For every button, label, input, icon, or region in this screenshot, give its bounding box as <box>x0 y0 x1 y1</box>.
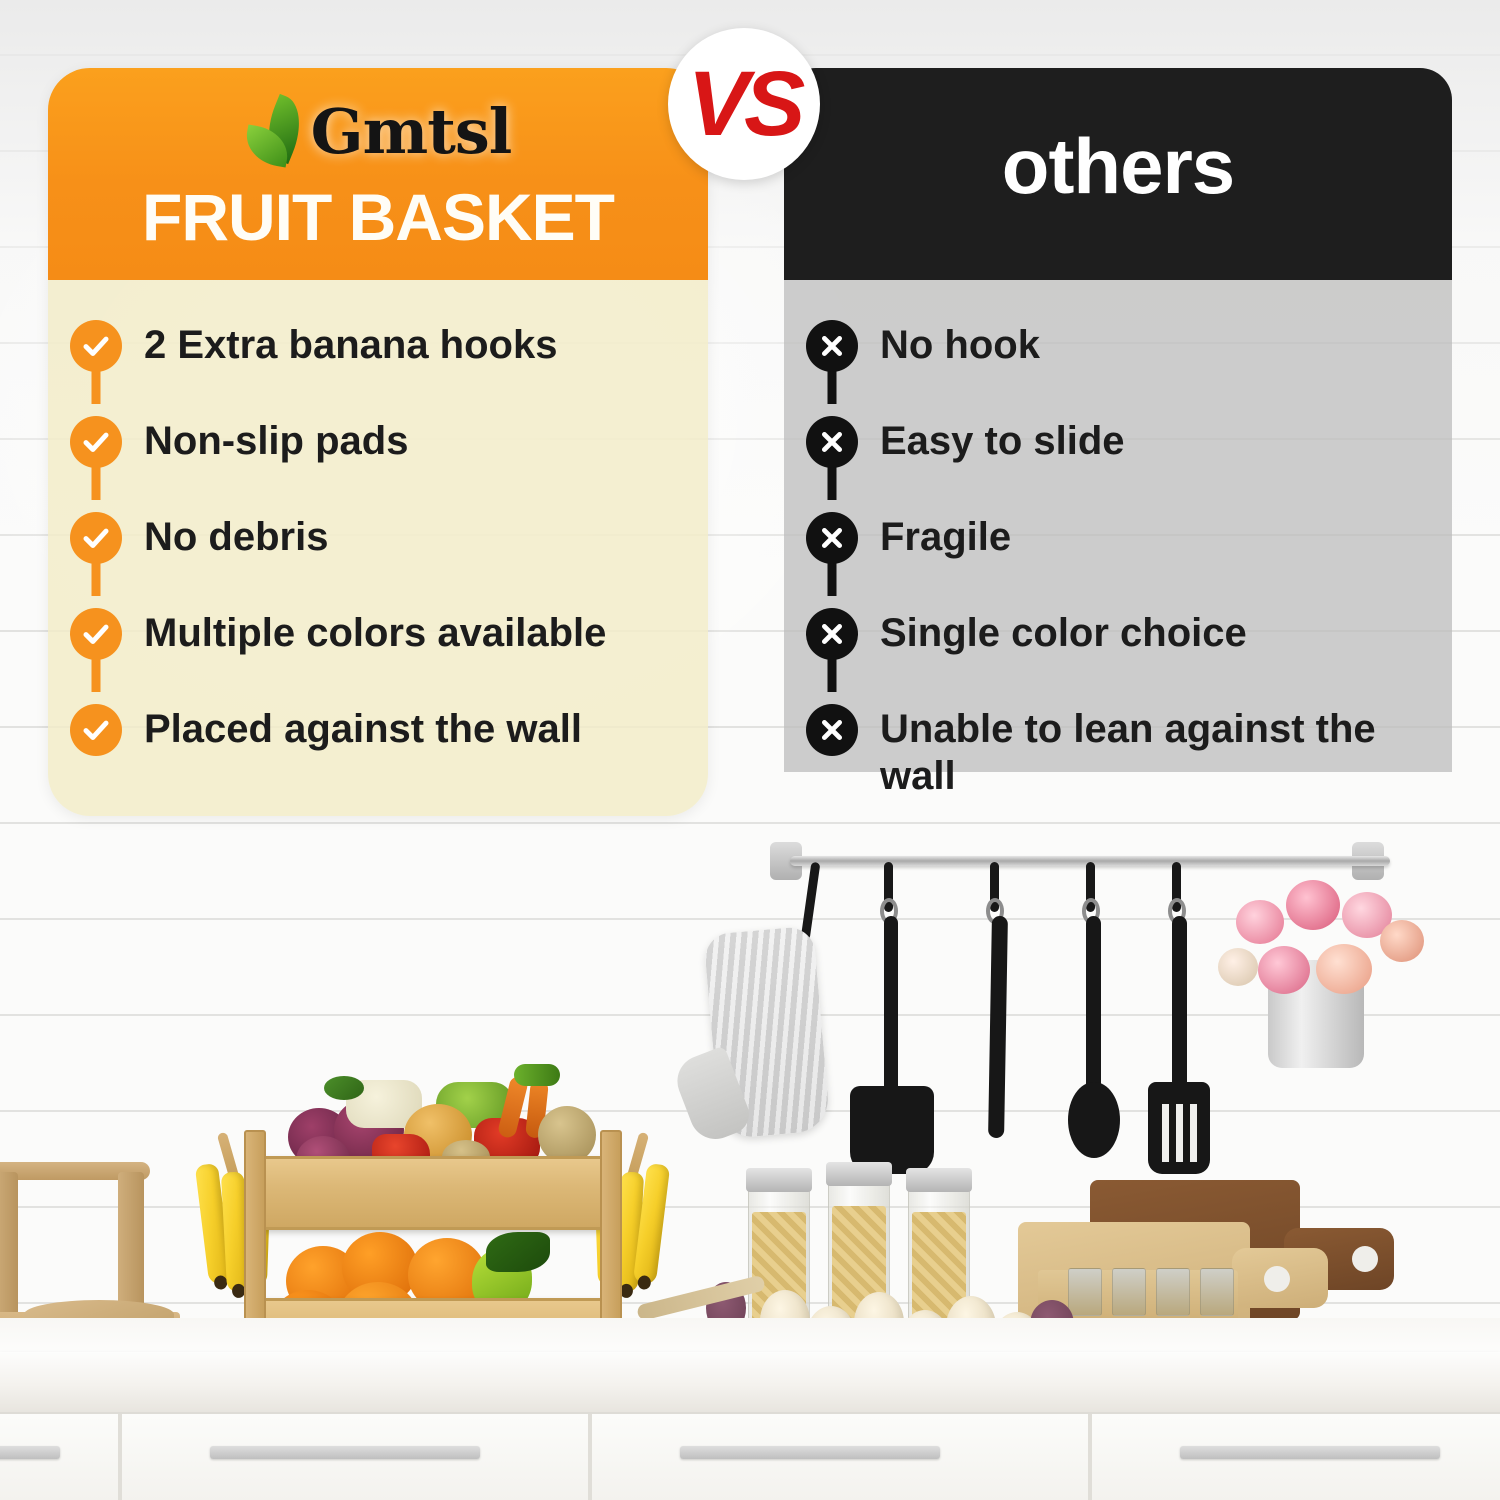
cutting-board-light-hole <box>1264 1266 1290 1292</box>
product-panel-header: Gmtsl FRUIT BASKET <box>48 68 708 280</box>
spoon-bowl <box>1068 1082 1120 1158</box>
product-feature-list: 2 Extra banana hooks Non-slip pads No de… <box>48 280 708 794</box>
cabinet-handle-2[interactable] <box>210 1446 480 1459</box>
drawback-label: Single color choice <box>880 602 1269 657</box>
feature-label: Multiple colors available <box>144 602 628 657</box>
rose-1 <box>1236 900 1284 944</box>
cross-icon <box>806 320 858 372</box>
others-panel-header: others <box>784 68 1452 280</box>
list-item: 2 Extra banana hooks <box>48 314 708 410</box>
list-item: Single color choice <box>784 602 1452 698</box>
marker-column <box>784 506 880 564</box>
leaf-icon <box>245 94 315 170</box>
vs-label: VS <box>688 58 801 150</box>
feature-label: No debris <box>144 506 350 561</box>
turner-handle <box>1172 916 1187 1096</box>
pasta-jar-lid-2 <box>826 1162 892 1186</box>
rose-5 <box>1316 944 1372 994</box>
marker-column <box>48 410 144 468</box>
drawback-label: Fragile <box>880 506 1033 561</box>
list-item: Non-slip pads <box>48 410 708 506</box>
marker-column <box>784 602 880 660</box>
list-item: Fragile <box>784 506 1452 602</box>
list-item: Placed against the wall <box>48 698 708 794</box>
caddy-post-left <box>0 1172 18 1322</box>
list-item: No hook <box>784 314 1452 410</box>
marker-column <box>48 314 144 372</box>
others-feature-list: No hook Easy to slide Fragile <box>784 280 1452 800</box>
rose-6 <box>1380 920 1424 962</box>
carrot-greens <box>514 1064 560 1086</box>
list-item: No debris <box>48 506 708 602</box>
drawback-label: Easy to slide <box>880 410 1147 465</box>
turner-slot-1 <box>1162 1104 1169 1162</box>
cabinet-handle-3[interactable] <box>680 1446 940 1459</box>
pasta-jar-lid-1 <box>746 1168 812 1192</box>
spatula-head <box>850 1086 934 1174</box>
cabinet-row <box>0 1412 1500 1500</box>
marker-column <box>48 506 144 564</box>
star-fruit-leaf <box>486 1232 550 1272</box>
cabinet-handle-1[interactable] <box>0 1446 60 1459</box>
list-item: Easy to slide <box>784 410 1452 506</box>
spice-jar-2 <box>1112 1268 1146 1316</box>
drawback-label: No hook <box>880 314 1062 369</box>
rose-4 <box>1258 946 1310 994</box>
turner-slot-2 <box>1176 1104 1183 1162</box>
feature-label: Placed against the wall <box>144 698 604 753</box>
pasta-jar-lid-3 <box>906 1168 972 1192</box>
check-icon <box>70 512 122 564</box>
marker-column <box>784 698 880 756</box>
cross-icon <box>806 608 858 660</box>
oven-mitt <box>703 926 830 1140</box>
cross-icon <box>806 512 858 564</box>
vs-badge: VS <box>668 28 820 180</box>
counter-backsplash <box>0 1318 1500 1354</box>
check-icon <box>70 416 122 468</box>
turner-slot-3 <box>1190 1104 1197 1162</box>
list-item: Unable to lean against the wall <box>784 698 1452 800</box>
drawback-label: Unable to lean against the wall <box>880 698 1420 800</box>
check-icon <box>70 320 122 372</box>
spoon-handle <box>1086 916 1101 1098</box>
brand-logo: Gmtsl <box>245 86 512 178</box>
cross-icon <box>806 704 858 756</box>
marker-column <box>48 698 144 756</box>
countertop <box>0 1352 1500 1412</box>
others-comparison-panel: others No hook Easy to slide <box>784 68 1452 772</box>
marker-column <box>48 602 144 660</box>
spice-jar-1 <box>1068 1268 1102 1316</box>
others-panel-title: others <box>1002 127 1234 221</box>
check-icon <box>70 704 122 756</box>
spice-jar-4 <box>1200 1268 1234 1316</box>
rose-2 <box>1286 880 1340 930</box>
list-item: Multiple colors available <box>48 602 708 698</box>
product-comparison-panel: Gmtsl FRUIT BASKET 2 Extra banana hooks … <box>48 68 708 816</box>
feature-label: 2 Extra banana hooks <box>144 314 579 369</box>
cauliflower-leaf <box>324 1076 364 1100</box>
basket-tier-top <box>250 1156 612 1230</box>
rose-7 <box>1218 948 1258 986</box>
check-icon <box>70 608 122 660</box>
spice-jar-3 <box>1156 1268 1190 1316</box>
product-panel-title: FRUIT BASKET <box>142 184 614 250</box>
marker-column <box>784 410 880 468</box>
cross-icon <box>806 416 858 468</box>
marker-column <box>784 314 880 372</box>
cutting-board-dark-hole <box>1352 1246 1378 1272</box>
brand-name: Gmtsl <box>311 101 512 163</box>
feature-label: Non-slip pads <box>144 410 430 465</box>
cabinet-handle-4[interactable] <box>1180 1446 1440 1459</box>
caddy-post-right <box>118 1172 144 1322</box>
